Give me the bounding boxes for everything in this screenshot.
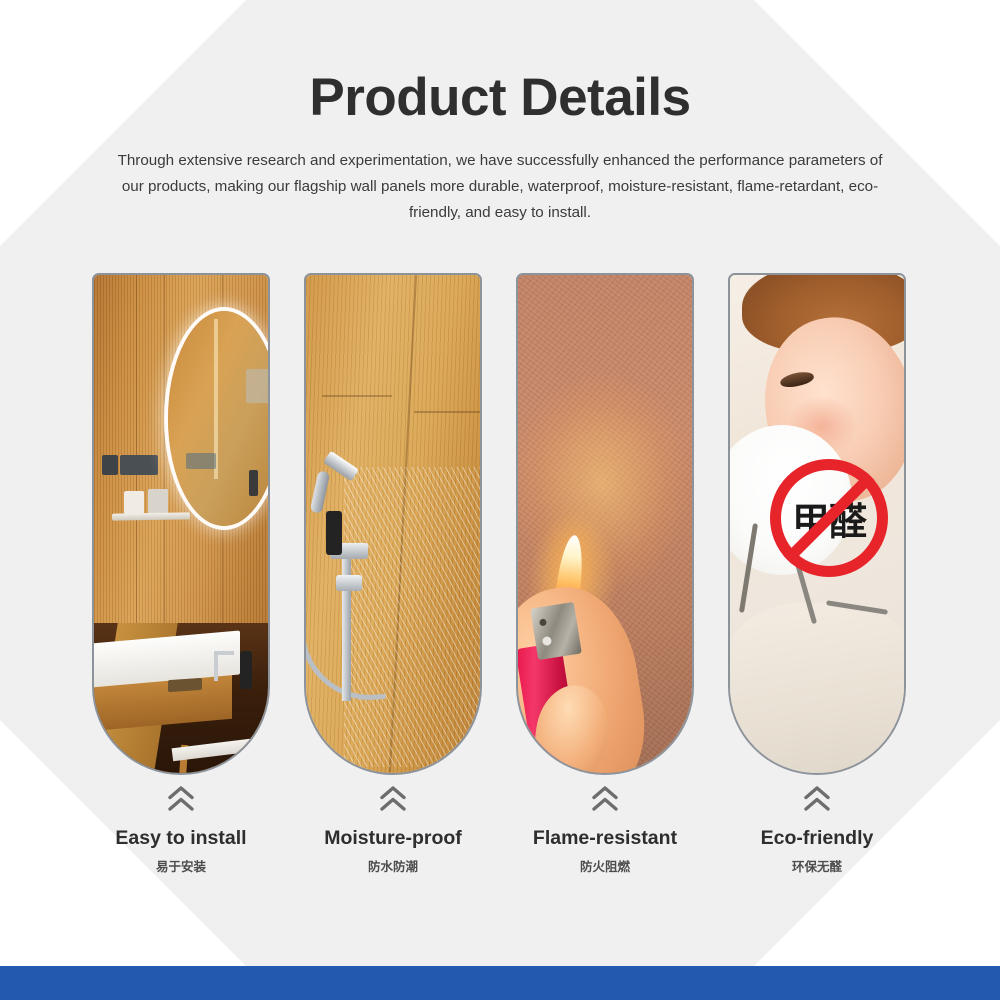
no-formaldehyde-sign: 甲醛 bbox=[770, 459, 888, 577]
feature-card-easy-to-install[interactable] bbox=[92, 273, 270, 775]
intro-paragraph: Through extensive research and experimen… bbox=[115, 128, 885, 226]
page-header: Product Details Through extensive resear… bbox=[0, 0, 1000, 226]
product-details-page: Product Details Through extensive resear… bbox=[0, 0, 1000, 1000]
feature-card-moisture-proof[interactable] bbox=[304, 273, 482, 775]
chevron-double-up-icon bbox=[167, 786, 195, 812]
feature-caption-flame-resistant: Flame-resistant 防火阻燃 bbox=[516, 786, 694, 875]
feature-card-flame-resistant[interactable] bbox=[516, 273, 694, 775]
feature-caption-moisture-proof: Moisture-proof 防水防潮 bbox=[304, 786, 482, 875]
feature-caption-row: Easy to install 易于安装 Moisture-proof 防水防潮… bbox=[92, 786, 908, 896]
baby-photo: 甲醛 bbox=[730, 275, 904, 773]
shower-photo bbox=[306, 275, 480, 773]
bottom-accent-bar bbox=[0, 966, 1000, 1000]
feature-title: Moisture-proof bbox=[304, 826, 482, 850]
feature-caption-eco-friendly: Eco-friendly 环保无醛 bbox=[728, 786, 906, 875]
feature-caption-easy-to-install: Easy to install 易于安装 bbox=[92, 786, 270, 875]
bathroom-photo bbox=[94, 275, 268, 773]
feature-title: Easy to install bbox=[92, 826, 270, 850]
feature-card-eco-friendly[interactable]: 甲醛 bbox=[728, 273, 906, 775]
feature-title: Flame-resistant bbox=[516, 826, 694, 850]
chevron-double-up-icon bbox=[591, 786, 619, 812]
chevron-double-up-icon bbox=[803, 786, 831, 812]
feature-title: Eco-friendly bbox=[728, 826, 906, 850]
feature-subtitle: 环保无醛 bbox=[728, 859, 906, 875]
feature-subtitle: 易于安装 bbox=[92, 859, 270, 875]
feature-subtitle: 防水防潮 bbox=[304, 859, 482, 875]
flame-test-photo bbox=[518, 275, 692, 773]
page-title: Product Details bbox=[0, 0, 1000, 128]
chevron-double-up-icon bbox=[379, 786, 407, 812]
feature-card-row: 甲醛 bbox=[92, 273, 908, 775]
feature-subtitle: 防火阻燃 bbox=[516, 859, 694, 875]
